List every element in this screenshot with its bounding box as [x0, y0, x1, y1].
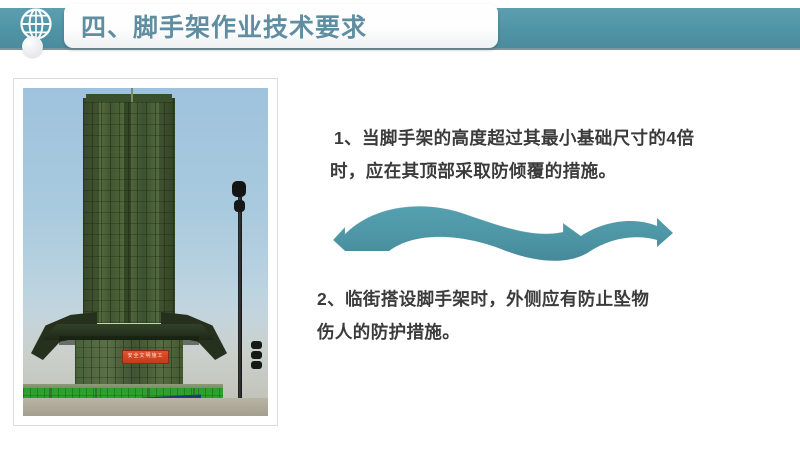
requirement-item-2-line-1: 2、临街搭设脚手架时，外侧应有防止坠物 — [317, 283, 709, 316]
double-headed-s-arrow-icon — [305, 192, 695, 270]
street-light-pole — [238, 183, 242, 416]
street-lamp-head-lower — [234, 200, 245, 212]
traffic-light — [251, 341, 264, 371]
requirement-item-2-line-2: 伤人的防护措施。 — [317, 316, 709, 349]
requirement-item-2: 2、临街搭设脚手架时，外侧应有防止坠物 伤人的防护措施。 — [317, 283, 709, 349]
street-lamp-head-upper — [232, 181, 246, 197]
site-safety-banner: 安全文明施工 — [122, 350, 169, 364]
photo-frame: 安全文明施工 中建八局工程 — [13, 78, 278, 426]
requirement-item-1: 1、当脚手架的高度超过其最小基础尺寸的4倍 时，应在其顶部采取防倾覆的措施。 — [334, 122, 706, 188]
crane-mast — [131, 88, 133, 102]
slide-canvas: 四、脚手架作业技术要求 安全文明施工 — [0, 0, 800, 450]
title-plate: 四、脚手架作业技术要求 — [64, 4, 498, 48]
tower-shaft-shadow-left — [83, 98, 99, 323]
ground-strip — [23, 398, 268, 416]
tower-top-cap — [86, 94, 172, 102]
tower-shaft-seam — [124, 98, 131, 323]
requirement-item-1-line-1: 1、当脚手架的高度超过其最小基础尺寸的4倍 — [334, 122, 706, 155]
page-title: 四、脚手架作业技术要求 — [81, 8, 367, 44]
header-accent-dot — [22, 36, 43, 57]
scaffolding-photo: 安全文明施工 中建八局工程 — [23, 88, 268, 416]
site-safety-banner-text: 安全文明施工 — [123, 352, 168, 359]
tower-shaft-shadow-right — [159, 98, 175, 323]
requirement-item-1-line-2: 时，应在其顶部采取防倾覆的措施。 — [330, 155, 706, 188]
